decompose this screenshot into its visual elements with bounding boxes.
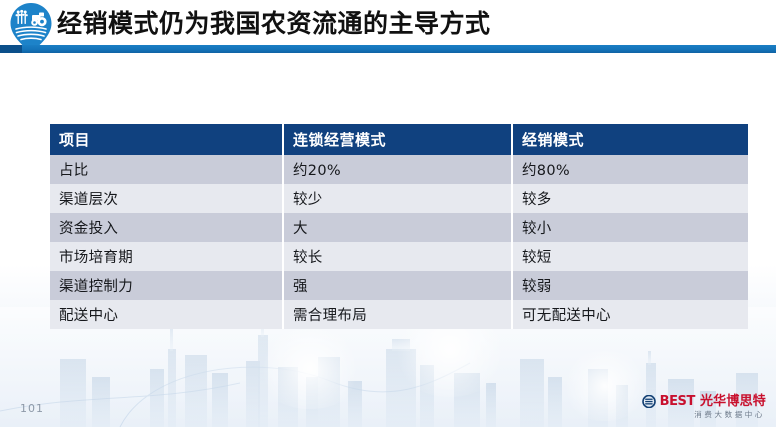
brand-logo: BEST 光华博思特 消费大数据中心 (642, 395, 766, 419)
table-row: 资金投入 大 较小 (50, 213, 748, 242)
title-underline-cap (0, 45, 22, 53)
cell-chain: 强 (283, 271, 512, 300)
cell-chain: 需合理布局 (283, 300, 512, 329)
cell-dealer: 约80% (512, 155, 748, 184)
table-row: 配送中心 需合理布局 可无配送中心 (50, 300, 748, 329)
slide-canvas: 经销模式仍为我国农资流通的主导方式 项目 连锁经营模式 经销模式 占比 约20%… (0, 0, 776, 427)
cell-dealer: 较短 (512, 242, 748, 271)
cell-chain: 较少 (283, 184, 512, 213)
table-row: 渠道控制力 强 较弱 (50, 271, 748, 300)
cell-item: 资金投入 (50, 213, 283, 242)
cell-item: 渠道控制力 (50, 271, 283, 300)
cell-dealer: 可无配送中心 (512, 300, 748, 329)
skyline-glow-left (255, 329, 365, 409)
page-number: 101 (20, 402, 44, 415)
table-row: 市场培育期 较长 较短 (50, 242, 748, 271)
cell-item: 占比 (50, 155, 283, 184)
brand-logo-row: BEST 光华博思特 (642, 395, 766, 408)
skyline-glow-right (560, 351, 650, 421)
cell-dealer: 较小 (512, 213, 748, 242)
column-header-chain: 连锁经营模式 (283, 124, 512, 155)
cell-dealer: 较弱 (512, 271, 748, 300)
brand-name-cn: 光华博思特 (700, 395, 766, 408)
cell-chain: 较长 (283, 242, 512, 271)
comparison-table-container: 项目 连锁经营模式 经销模式 占比 约20% 约80% 渠道层次 较少 较多 资… (50, 124, 748, 329)
cell-item: 渠道层次 (50, 184, 283, 213)
page-title: 经销模式仍为我国农资流通的主导方式 (57, 8, 491, 40)
cell-chain: 约20% (283, 155, 512, 184)
best-emblem-icon (642, 395, 656, 408)
brand-name-en: BEST (660, 395, 695, 408)
table-header-row: 项目 连锁经营模式 经销模式 (50, 124, 748, 155)
title-underline-bar (0, 45, 776, 53)
comparison-table: 项目 连锁经营模式 经销模式 占比 约20% 约80% 渠道层次 较少 较多 资… (50, 124, 748, 329)
cell-dealer: 较多 (512, 184, 748, 213)
cell-item: 配送中心 (50, 300, 283, 329)
cell-item: 市场培育期 (50, 242, 283, 271)
column-header-dealer: 经销模式 (512, 124, 748, 155)
table-row: 渠道层次 较少 较多 (50, 184, 748, 213)
column-header-item: 项目 (50, 124, 283, 155)
brand-tagline: 消费大数据中心 (642, 411, 765, 419)
cell-chain: 大 (283, 213, 512, 242)
table-row: 占比 约20% 约80% (50, 155, 748, 184)
